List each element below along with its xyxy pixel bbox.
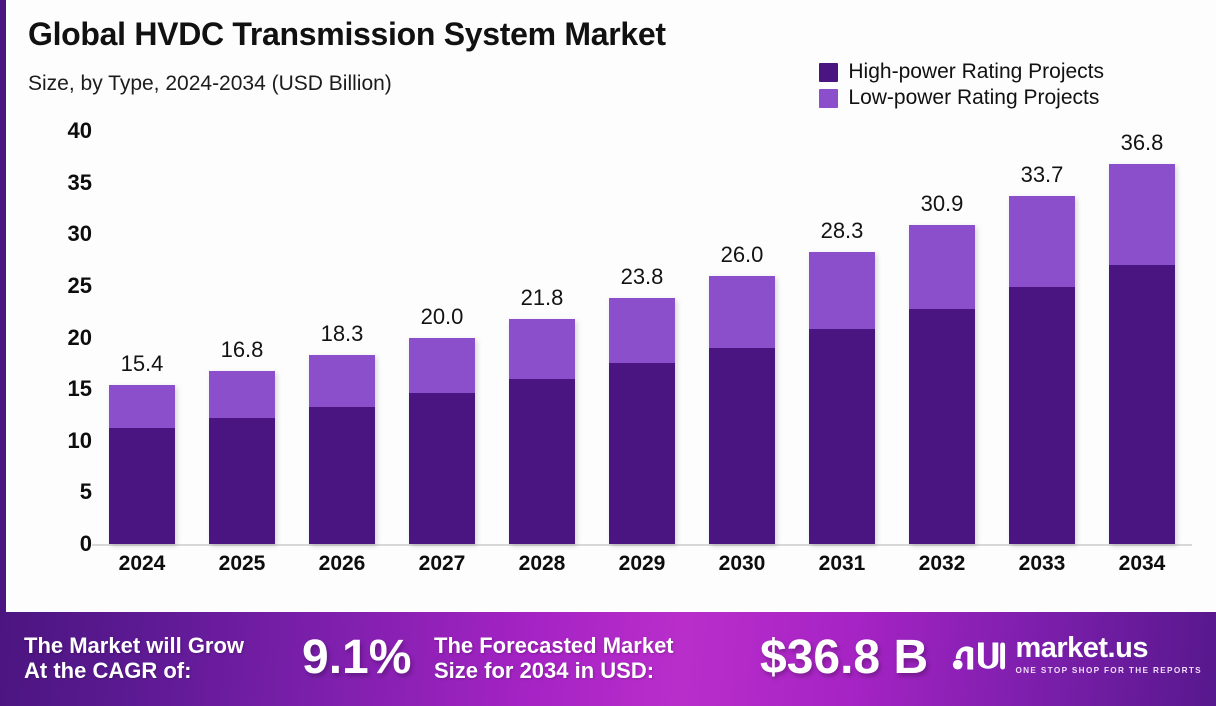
page-subtitle: Size, by Type, 2024-2034 (USD Billion)	[28, 72, 392, 96]
x-tick-label: 2029	[592, 552, 692, 576]
bar-segment-high-power[interactable]	[409, 393, 475, 544]
legend-label-high-power: High-power Rating Projects	[848, 60, 1104, 84]
bar-series-container: 15.416.818.320.021.823.826.028.330.933.7…	[92, 131, 1192, 544]
bar-segment-high-power[interactable]	[209, 418, 275, 544]
footer-banner: The Market will Grow At the CAGR of: 9.1…	[0, 612, 1216, 706]
chart-infographic: Global HVDC Transmission System Market S…	[0, 0, 1216, 706]
forecast-size-label-line1: The Forecasted Market	[434, 634, 674, 659]
x-tick-label: 2026	[292, 552, 392, 576]
bar-segment-low-power[interactable]	[109, 385, 175, 428]
y-tick-label: 0	[26, 531, 92, 557]
x-tick-label: 2031	[792, 552, 892, 576]
bar-segment-high-power[interactable]	[1009, 287, 1075, 544]
bar-segment-high-power[interactable]	[509, 379, 575, 544]
forecast-size-label: The Forecasted Market Size for 2034 in U…	[434, 634, 674, 683]
y-tick-label: 10	[26, 428, 92, 454]
bar-segment-high-power[interactable]	[809, 329, 875, 544]
bar-segment-low-power[interactable]	[209, 371, 275, 418]
x-tick-label: 2034	[1092, 552, 1192, 576]
bar-segment-low-power[interactable]	[709, 276, 775, 348]
market-us-logo-text: market.us ONE STOP SHOP FOR THE REPORTS	[1015, 634, 1202, 675]
bar-value-label: 21.8	[521, 285, 564, 311]
plot-area: 15.416.818.320.021.823.826.028.330.933.7…	[92, 131, 1192, 544]
bar-segment-low-power[interactable]	[809, 252, 875, 329]
bar-stack[interactable]	[509, 319, 575, 544]
bar-stack[interactable]	[1109, 164, 1175, 544]
y-tick-label: 40	[26, 118, 92, 144]
bar-stack[interactable]	[209, 371, 275, 544]
bar-stack[interactable]	[309, 355, 375, 544]
cagr-label: The Market will Grow At the CAGR of:	[24, 634, 244, 683]
y-tick-label: 5	[26, 479, 92, 505]
bar-value-label: 28.3	[821, 218, 864, 244]
bar-group-2030: 26.0	[692, 131, 792, 544]
bar-stack[interactable]	[909, 225, 975, 544]
market-us-logo[interactable]: market.us ONE STOP SHOP FOR THE REPORTS	[950, 634, 1202, 675]
bar-value-label: 36.8	[1121, 130, 1164, 156]
chart-legend: High-power Rating Projects Low-power Rat…	[819, 60, 1104, 110]
bar-segment-high-power[interactable]	[1109, 265, 1175, 544]
y-tick-label: 35	[26, 170, 92, 196]
legend-label-low-power: Low-power Rating Projects	[848, 86, 1099, 110]
bar-value-label: 18.3	[321, 321, 364, 347]
cagr-value: 9.1%	[302, 630, 411, 685]
y-tick-label: 25	[26, 273, 92, 299]
bar-value-label: 23.8	[621, 264, 664, 290]
bar-group-2024: 15.4	[92, 131, 192, 544]
x-tick-label: 2032	[892, 552, 992, 576]
y-tick-label: 15	[26, 376, 92, 402]
legend-swatch-icon-high-power	[819, 63, 838, 82]
bar-stack[interactable]	[409, 338, 475, 544]
cagr-label-line2: At the CAGR of:	[24, 659, 244, 684]
bar-group-2025: 16.8	[192, 131, 292, 544]
bar-group-2034: 36.8	[1092, 131, 1192, 544]
bar-value-label: 15.4	[121, 351, 164, 377]
bar-group-2026: 18.3	[292, 131, 392, 544]
y-tick-label: 30	[26, 221, 92, 247]
bar-value-label: 20.0	[421, 304, 464, 330]
bar-value-label: 16.8	[221, 337, 264, 363]
x-tick-label: 2028	[492, 552, 592, 576]
bar-stack[interactable]	[1009, 196, 1075, 544]
bar-segment-low-power[interactable]	[1109, 164, 1175, 265]
bar-stack[interactable]	[609, 298, 675, 544]
bar-group-2027: 20.0	[392, 131, 492, 544]
bar-group-2029: 23.8	[592, 131, 692, 544]
page-title: Global HVDC Transmission System Market	[28, 16, 666, 53]
bar-segment-low-power[interactable]	[609, 298, 675, 363]
bar-segment-high-power[interactable]	[709, 348, 775, 544]
x-tick-label: 2025	[192, 552, 292, 576]
bar-segment-low-power[interactable]	[509, 319, 575, 379]
bar-group-2032: 30.9	[892, 131, 992, 544]
y-tick-label: 20	[26, 325, 92, 351]
bar-segment-low-power[interactable]	[909, 225, 975, 309]
bar-group-2033: 33.7	[992, 131, 1092, 544]
bar-segment-high-power[interactable]	[309, 407, 375, 544]
x-axis-labels: 2024202520262027202820292030203120322033…	[92, 552, 1192, 576]
market-us-logo-mark-icon	[950, 638, 1006, 672]
legend-item-low-power[interactable]: Low-power Rating Projects	[819, 86, 1099, 110]
bar-segment-high-power[interactable]	[609, 363, 675, 544]
bar-group-2028: 21.8	[492, 131, 592, 544]
logo-tagline: ONE STOP SHOP FOR THE REPORTS	[1015, 666, 1202, 675]
x-tick-label: 2030	[692, 552, 792, 576]
cagr-label-line1: The Market will Grow	[24, 634, 244, 659]
logo-wordmark: market.us	[1015, 634, 1202, 663]
bar-segment-low-power[interactable]	[309, 355, 375, 407]
x-axis-line	[92, 544, 1192, 546]
legend-swatch-icon-low-power	[819, 89, 838, 108]
forecast-size-value: $36.8 B	[760, 630, 928, 685]
forecast-size-label-line2: Size for 2034 in USD:	[434, 659, 674, 684]
bar-group-2031: 28.3	[792, 131, 892, 544]
y-axis: 4035302520151050	[0, 131, 92, 544]
bar-segment-high-power[interactable]	[109, 428, 175, 544]
bar-value-label: 26.0	[721, 242, 764, 268]
bar-value-label: 30.9	[921, 191, 964, 217]
x-tick-label: 2033	[992, 552, 1092, 576]
bar-value-label: 33.7	[1021, 162, 1064, 188]
bar-segment-high-power[interactable]	[909, 309, 975, 544]
bar-segment-low-power[interactable]	[409, 338, 475, 394]
legend-item-high-power[interactable]: High-power Rating Projects	[819, 60, 1104, 84]
bar-segment-low-power[interactable]	[1009, 196, 1075, 287]
bar-stack[interactable]	[809, 252, 875, 544]
bar-stack[interactable]	[709, 276, 775, 544]
x-tick-label: 2027	[392, 552, 492, 576]
bar-stack[interactable]	[109, 385, 175, 544]
x-tick-label: 2024	[92, 552, 192, 576]
